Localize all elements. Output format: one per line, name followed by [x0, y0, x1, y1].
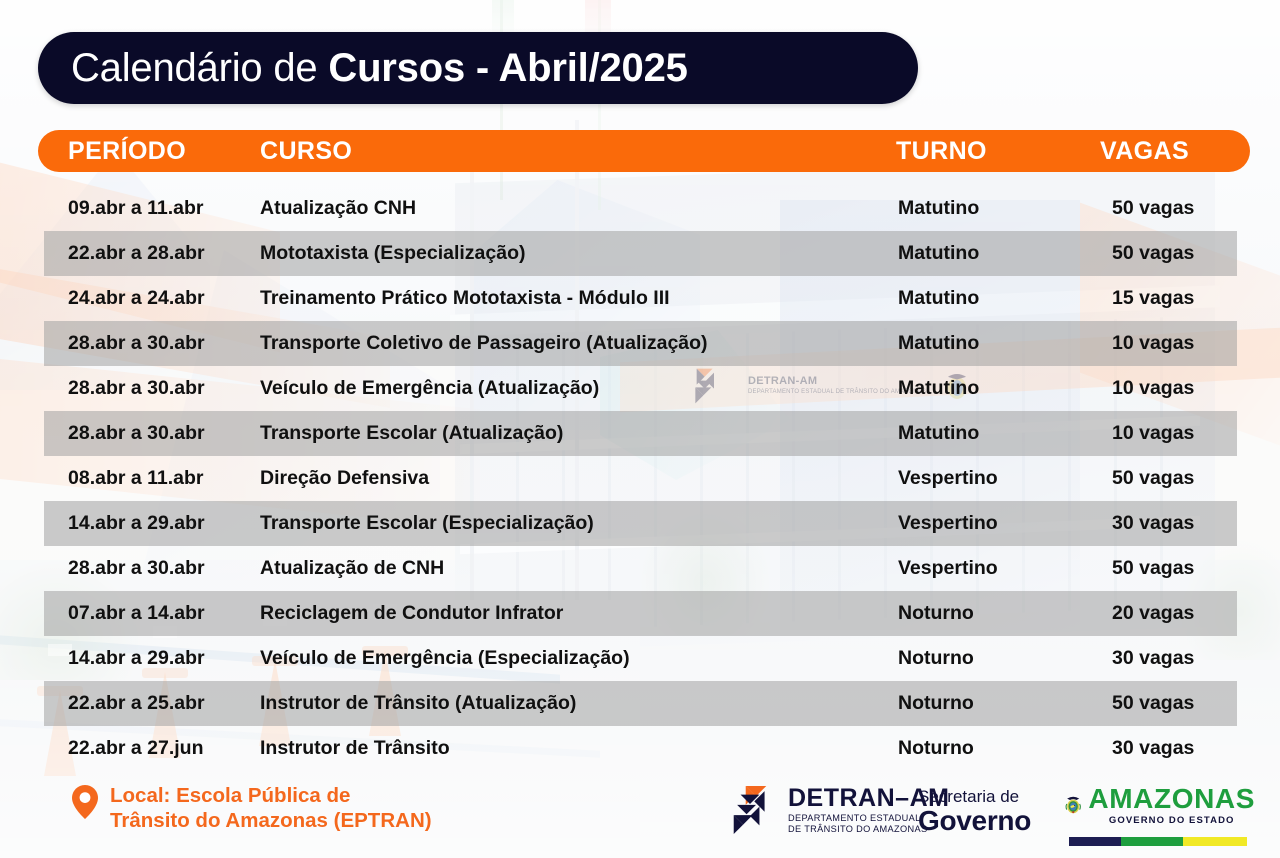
amazonas-color-bars [1069, 837, 1247, 846]
cell-turno: Matutino [898, 276, 979, 321]
amazonas-name: AMAZONAS [1088, 785, 1255, 813]
cell-curso: Atualização CNH [260, 186, 416, 231]
table-row: 28.abr a 30.abr Transporte Escolar (Atua… [0, 411, 1280, 456]
cell-vagas: 50 vagas [1112, 681, 1194, 726]
secretaria-line-2: Governo [918, 806, 1031, 836]
cell-curso: Mototaxista (Especialização) [260, 231, 526, 276]
cell-turno: Noturno [898, 681, 974, 726]
cell-vagas: 30 vagas [1112, 726, 1194, 771]
row-stripe [44, 501, 1237, 546]
cell-vagas: 50 vagas [1112, 456, 1194, 501]
cell-periodo: 14.abr a 29.abr [68, 636, 205, 681]
cell-vagas: 50 vagas [1112, 231, 1194, 276]
cell-periodo: 28.abr a 30.abr [68, 321, 205, 366]
column-header-periodo: PERÍODO [68, 130, 186, 172]
cell-vagas: 20 vagas [1112, 591, 1194, 636]
location-block: Local: Escola Pública de Trânsito do Ama… [72, 783, 432, 833]
row-stripe [44, 681, 1237, 726]
detran-mark-icon [730, 786, 782, 834]
poster-title-pill: Calendário de Cursos - Abril/2025 [38, 32, 918, 104]
cell-turno: Matutino [898, 186, 979, 231]
cell-turno: Vespertino [898, 546, 998, 591]
cell-vagas: 50 vagas [1112, 546, 1194, 591]
location-text: Local: Escola Pública de Trânsito do Ama… [110, 783, 432, 833]
cell-turno: Noturno [898, 591, 974, 636]
poster-content: Calendário de Cursos - Abril/2025 PERÍOD… [0, 0, 1280, 858]
cell-vagas: 15 vagas [1112, 276, 1194, 321]
cell-curso: Transporte Escolar (Especialização) [260, 501, 594, 546]
table-header-bar: PERÍODO CURSO TURNO VAGAS [38, 130, 1250, 172]
amazonas-coat-of-arms-icon [1065, 780, 1081, 830]
table-row: 22.abr a 25.abr Instrutor de Trânsito (A… [0, 681, 1280, 726]
cell-turno: Noturno [898, 636, 974, 681]
cell-periodo: 22.abr a 27.jun [68, 726, 203, 771]
cell-curso: Direção Defensiva [260, 456, 429, 501]
table-row: 28.abr a 30.abr Veículo de Emergência (A… [0, 366, 1280, 411]
table-row: 14.abr a 29.abr Transporte Escolar (Espe… [0, 501, 1280, 546]
table-row: 28.abr a 30.abr Transporte Coletivo de P… [0, 321, 1280, 366]
cell-curso: Reciclagem de Condutor Infrator [260, 591, 563, 636]
page-title-bold: Cursos - Abril/2025 [328, 46, 687, 90]
bar-yellow [1183, 837, 1247, 846]
cell-turno: Vespertino [898, 501, 998, 546]
cell-turno: Vespertino [898, 456, 998, 501]
table-body: 09.abr a 11.abr Atualização CNH Matutino… [0, 186, 1280, 771]
page-title-plain: Calendário de [71, 46, 328, 90]
cell-curso: Instrutor de Trânsito [260, 726, 450, 771]
cell-turno: Noturno [898, 726, 974, 771]
cell-periodo: 08.abr a 11.abr [68, 456, 204, 501]
table-row: 08.abr a 11.abr Direção Defensiva Vesper… [0, 456, 1280, 501]
cell-vagas: 30 vagas [1112, 501, 1194, 546]
detran-logo: DETRAN–AM DEPARTAMENTO ESTADUAL DE TRÂNS… [730, 786, 949, 834]
cell-curso: Treinamento Prático Mototaxista - Módulo… [260, 276, 670, 321]
cell-periodo: 28.abr a 30.abr [68, 366, 205, 411]
cell-periodo: 07.abr a 14.abr [68, 591, 205, 636]
cell-vagas: 50 vagas [1112, 186, 1194, 231]
row-stripe [44, 411, 1237, 456]
cell-curso: Veículo de Emergência (Atualização) [260, 366, 599, 411]
cell-periodo: 09.abr a 11.abr [68, 186, 204, 231]
page-title: Calendário de Cursos - Abril/2025 [71, 46, 688, 91]
cell-turno: Matutino [898, 411, 979, 456]
table-row: 24.abr a 24.abr Treinamento Prático Moto… [0, 276, 1280, 321]
table-row: 28.abr a 30.abr Atualização de CNH Vespe… [0, 546, 1280, 591]
cell-curso: Veículo de Emergência (Especialização) [260, 636, 630, 681]
map-pin-icon [72, 785, 98, 819]
cell-vagas: 10 vagas [1112, 366, 1194, 411]
column-header-turno: TURNO [896, 130, 987, 172]
table-row: 07.abr a 14.abr Reciclagem de Condutor I… [0, 591, 1280, 636]
cell-curso: Transporte Escolar (Atualização) [260, 411, 563, 456]
column-header-curso: CURSO [260, 130, 352, 172]
secretaria-governo-logo: Secretaria de Governo [918, 788, 1031, 837]
bar-navy [1069, 837, 1121, 846]
bar-green [1121, 837, 1183, 846]
cell-curso: Instrutor de Trânsito (Atualização) [260, 681, 576, 726]
row-stripe [44, 231, 1237, 276]
table-row: 22.abr a 28.abr Mototaxista (Especializa… [0, 231, 1280, 276]
cell-periodo: 22.abr a 28.abr [68, 231, 205, 276]
cell-turno: Matutino [898, 231, 979, 276]
location-line-1: Local: Escola Pública de [110, 783, 432, 808]
column-header-vagas: VAGAS [1100, 130, 1189, 172]
row-stripe [44, 591, 1237, 636]
secretaria-line-1: Secretaria de [918, 788, 1031, 806]
table-row: 14.abr a 29.abr Veículo de Emergência (E… [0, 636, 1280, 681]
cell-turno: Matutino [898, 321, 979, 366]
amazonas-sub: GOVERNO DO ESTADO [1088, 816, 1255, 826]
table-row: 22.abr a 27.jun Instrutor de Trânsito No… [0, 726, 1280, 771]
cell-periodo: 24.abr a 24.abr [68, 276, 205, 321]
cell-vagas: 10 vagas [1112, 411, 1194, 456]
cell-periodo: 14.abr a 29.abr [68, 501, 205, 546]
amazonas-governo-logo: AMAZONAS GOVERNO DO ESTADO [1065, 780, 1255, 846]
cell-periodo: 22.abr a 25.abr [68, 681, 205, 726]
cell-vagas: 30 vagas [1112, 636, 1194, 681]
cell-periodo: 28.abr a 30.abr [68, 411, 205, 456]
cell-turno: Matutino [898, 366, 979, 411]
location-line-2: Trânsito do Amazonas (EPTRAN) [110, 808, 432, 833]
cell-curso: Atualização de CNH [260, 546, 444, 591]
cell-vagas: 10 vagas [1112, 321, 1194, 366]
cell-curso: Transporte Coletivo de Passageiro (Atual… [260, 321, 708, 366]
table-row: 09.abr a 11.abr Atualização CNH Matutino… [0, 186, 1280, 231]
cell-periodo: 28.abr a 30.abr [68, 546, 205, 591]
